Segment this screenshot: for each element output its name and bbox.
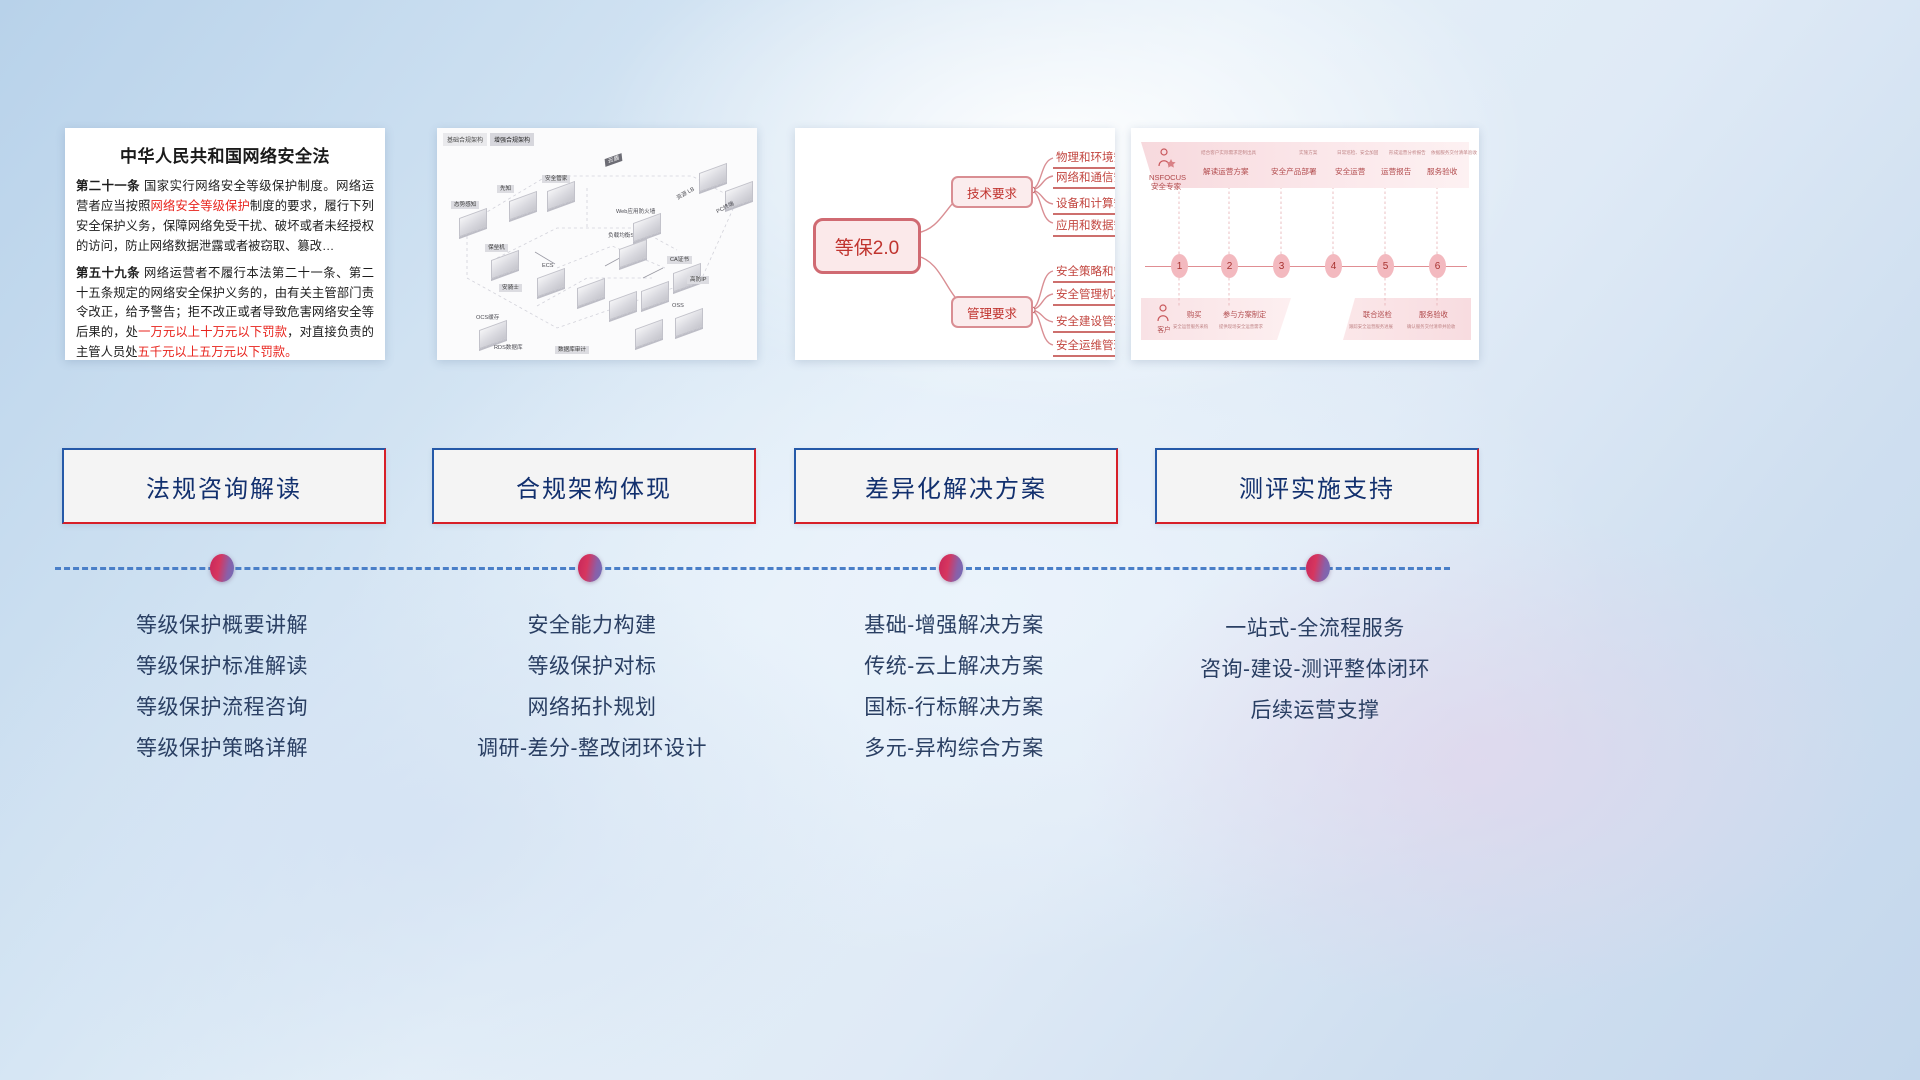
timeline-dot-1[interactable]: [210, 554, 234, 582]
section-title-4[interactable]: 测评实施支持: [1155, 448, 1479, 524]
list-item: 后续运营支撑: [1155, 690, 1475, 731]
list-item: 安全能力构建: [432, 605, 752, 646]
section-list-3: 基础-增强解决方案 传统-云上解决方案 国标-行标解决方案 多元-异构综合方案: [794, 605, 1114, 769]
list-item: 等级保护策略详解: [62, 728, 382, 769]
timeline-axis: [55, 567, 1450, 570]
list-item: 等级保护流程咨询: [62, 687, 382, 728]
timeline-dot-4[interactable]: [1306, 554, 1330, 582]
list-item: 基础-增强解决方案: [794, 605, 1114, 646]
list-item: 传统-云上解决方案: [794, 646, 1114, 687]
timeline-dot-3[interactable]: [939, 554, 963, 582]
section-list-1: 等级保护概要讲解 等级保护标准解读 等级保护流程咨询 等级保护策略详解: [62, 605, 382, 769]
slide-root: 中华人民共和国网络安全法 第二十一条 国家实行网络安全等级保护制度。网络运营者应…: [0, 0, 1920, 1080]
section-titles: 法规咨询解读 合规架构体现 差异化解决方案 测评实施支持: [0, 0, 1920, 1080]
list-item: 咨询-建设-测评整体闭环: [1155, 649, 1475, 690]
list-item: 多元-异构综合方案: [794, 728, 1114, 769]
section-list-2: 安全能力构建 等级保护对标 网络拓扑规划 调研-差分-整改闭环设计: [432, 605, 752, 769]
list-item: 等级保护标准解读: [62, 646, 382, 687]
section-list-4: 一站式-全流程服务 咨询-建设-测评整体闭环 后续运营支撑: [1155, 608, 1475, 731]
section-title-2[interactable]: 合规架构体现: [432, 448, 756, 524]
section-title-1[interactable]: 法规咨询解读: [62, 448, 386, 524]
list-item: 网络拓扑规划: [432, 687, 752, 728]
timeline-dot-2[interactable]: [578, 554, 602, 582]
list-item: 国标-行标解决方案: [794, 687, 1114, 728]
list-item: 等级保护对标: [432, 646, 752, 687]
list-item: 一站式-全流程服务: [1155, 608, 1475, 649]
section-title-3[interactable]: 差异化解决方案: [794, 448, 1118, 524]
list-item: 等级保护概要讲解: [62, 605, 382, 646]
list-item: 调研-差分-整改闭环设计: [432, 728, 752, 769]
